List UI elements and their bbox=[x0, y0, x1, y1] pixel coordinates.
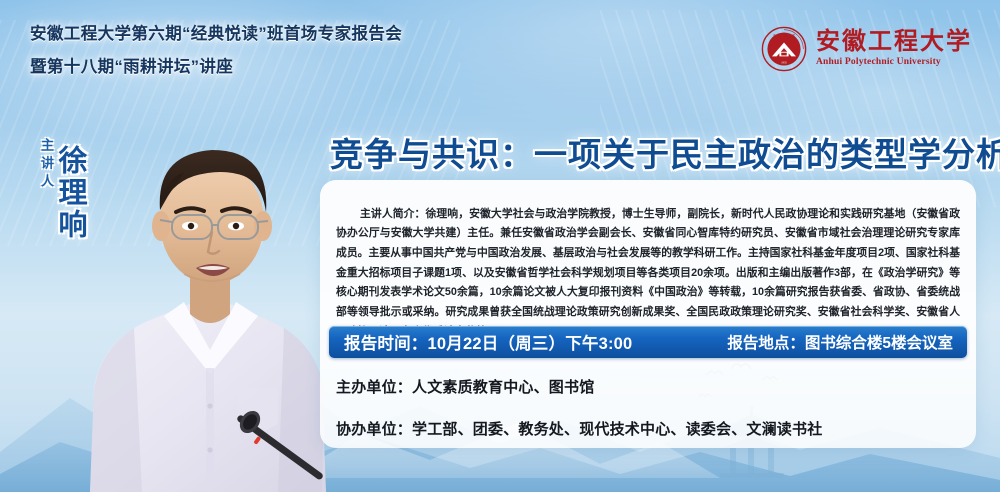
university-seal-icon: 安徽工程大学 1935 bbox=[761, 26, 807, 72]
poster-header: 安徽工程大学第六期“经典悦读”班首场专家报告会 暨第十八期“雨耕讲坛”讲座 bbox=[30, 26, 402, 93]
speaker-portrait bbox=[72, 88, 340, 492]
university-logo: 安徽工程大学 1935 安徽工程大学 Anhui Polytechnic Uni… bbox=[761, 26, 972, 72]
logo-name-en: Anhui Polytechnic University bbox=[816, 58, 972, 68]
lecture-poster: 安徽工程大学第六期“经典悦读”班首场专家报告会 暨第十八期“雨耕讲坛”讲座 安徽… bbox=[0, 0, 1000, 492]
event-info-bar: 报告时间：10月22日（周三）下午3:00 报告地点：图书综合楼5楼会议室 bbox=[329, 326, 967, 358]
content-card: 主讲人简介：徐理响，安徽大学社会与政治学院教授，博士生导师，副院长，新时代人民政… bbox=[320, 180, 976, 448]
header-line-2: 暨第十八期“雨耕讲坛”讲座 bbox=[30, 59, 402, 76]
event-place: 报告地点：图书综合楼5楼会议室 bbox=[727, 331, 953, 353]
logo-wordmark: 安徽工程大学 Anhui Polytechnic University bbox=[816, 30, 972, 68]
speaker-label: 主讲人 徐理响 bbox=[40, 138, 84, 241]
header-line-1: 安徽工程大学第六期“经典悦读”班首场专家报告会 bbox=[30, 26, 402, 43]
speaker-name: 徐理响 bbox=[55, 145, 84, 241]
svg-text:1935: 1935 bbox=[781, 62, 787, 65]
co-host-organisations: 协办单位：学工部、团委、教务处、现代技术中心、读委会、文澜读书社 bbox=[336, 418, 822, 439]
svg-text:安徽工程大学: 安徽工程大学 bbox=[773, 33, 795, 38]
speaker-role-label: 主讲人 bbox=[40, 138, 53, 192]
lecture-title: 竞争与共识：一项关于民主政治的类型学分析 bbox=[330, 128, 1000, 176]
logo-name-cn: 安徽工程大学 bbox=[816, 30, 972, 54]
host-organisations: 主办单位：人文素质教育中心、图书馆 bbox=[336, 376, 594, 397]
event-time: 报告时间：10月22日（周三）下午3:00 bbox=[344, 330, 632, 354]
speaker-bio: 主讲人简介：徐理响，安徽大学社会与政治学院教授，博士生导师，副院长，新时代人民政… bbox=[336, 205, 960, 342]
